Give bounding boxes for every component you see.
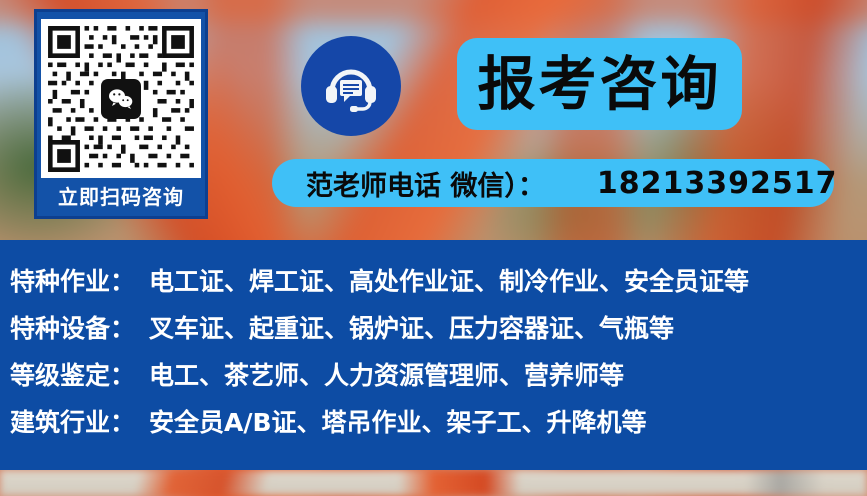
info-row-grade-appraisal: 等级鉴定： 电工、茶艺师、人力资源管理师、营养师等 [10,356,867,403]
contact-phone-number[interactable]: 18213392517 [597,166,838,201]
info-row-special-operations: 特种作业： 电工证、焊工证、高处作业证、制冷作业、安全员证等 [10,262,867,309]
info-category-label: 等级鉴定： [10,356,135,392]
background-photo-bottom-strip [0,470,867,496]
info-items-text: 叉车证、起重证、锅炉证、压力容器证、气瓶等 [149,309,674,345]
wechat-glyph [108,88,134,110]
info-items-text: 电工证、焊工证、高处作业证、制冷作业、安全员证等 [149,262,749,298]
info-row-construction-industry: 建筑行业： 安全员A/B证、塔吊作业、架子工、升降机等 [10,403,867,450]
info-category-label: 特种设备： [10,309,135,345]
promo-poster: 立即扫码咨询 报考咨询 范老师电话 微信）： 18213392517 [0,0,867,496]
headset-glyph [320,55,382,117]
info-items-text: 电工、茶艺师、人力资源管理师、营养师等 [149,356,624,392]
certification-list-band: 特种作业： 电工证、焊工证、高处作业证、制冷作业、安全员证等 特种设备： 叉车证… [0,240,867,470]
qr-caption: 立即扫码咨询 [58,178,184,216]
info-items-text: 安全员A/B证、塔吊作业、架子工、升降机等 [149,403,647,439]
contact-phone-pill[interactable]: 范老师电话 微信）： 18213392517 [272,159,834,207]
wechat-icon [101,79,141,119]
info-category-label: 特种作业： [10,262,135,298]
contact-label: 范老师电话 微信）： [306,164,545,203]
headset-support-icon [301,36,401,136]
title-pill: 报考咨询 [457,38,742,130]
info-category-label: 建筑行业： [10,403,135,439]
page-title: 报考咨询 [477,55,721,113]
qr-code-card[interactable]: 立即扫码咨询 [34,9,208,219]
qr-code-image[interactable] [41,19,201,178]
info-row-special-equipment: 特种设备： 叉车证、起重证、锅炉证、压力容器证、气瓶等 [10,309,867,356]
